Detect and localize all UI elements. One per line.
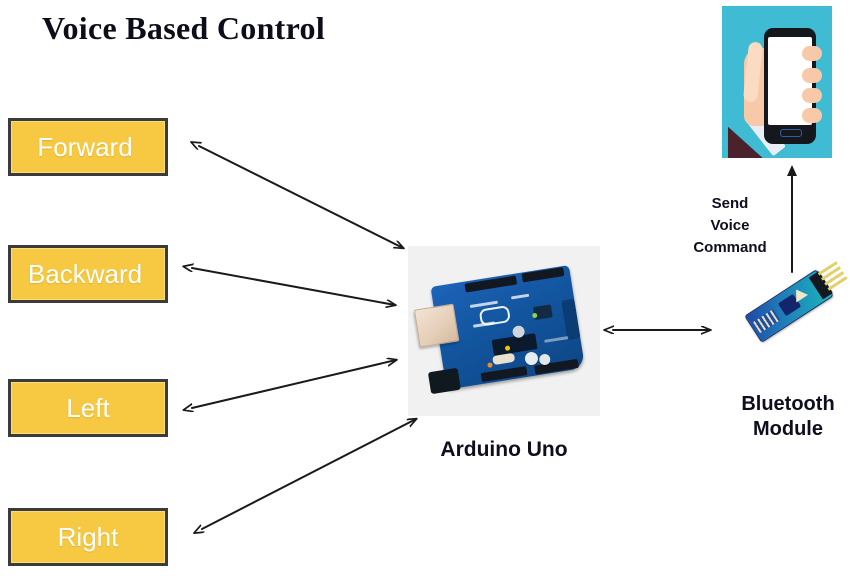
diagram-canvas: Voice Based Control Forward Backward Lef… <box>0 0 850 578</box>
header-pin-strip <box>464 275 517 292</box>
arduino-caption: Arduino Uno <box>408 438 600 462</box>
crystal-oscillator <box>492 353 515 365</box>
bluetooth-caption: Bluetooth Module <box>700 392 850 442</box>
arrow-left-arduino <box>192 360 396 408</box>
arrow-right-arduino <box>202 419 416 529</box>
power-jack <box>428 368 461 394</box>
arrow-backward-arduino <box>192 268 395 305</box>
silkscreen-mark <box>511 294 529 300</box>
send-voice-line-3: Command <box>672 237 788 259</box>
capacitor <box>524 351 539 366</box>
command-box-backward[interactable]: Backward <box>8 245 168 303</box>
pcb-notch <box>561 299 580 341</box>
bluetooth-caption-line-2: Module <box>700 417 850 442</box>
send-voice-command-label: Send Voice Command <box>672 193 788 258</box>
finger <box>802 88 822 103</box>
command-label: Forward <box>37 134 132 160</box>
silkscreen-mark <box>473 321 495 327</box>
command-box-forward[interactable]: Forward <box>8 118 168 176</box>
arduino-uno-board-icon <box>417 257 590 402</box>
command-label: Left <box>66 395 109 421</box>
page-title: Voice Based Control <box>42 10 325 47</box>
finger <box>802 68 822 83</box>
command-label: Right <box>58 524 119 550</box>
header-pin-strip <box>522 267 565 282</box>
hand-holding-smartphone-icon <box>722 6 832 158</box>
home-button-icon <box>780 129 802 137</box>
command-box-left[interactable]: Left <box>8 379 168 437</box>
usb-connector <box>414 304 459 348</box>
command-label: Backward <box>28 261 142 287</box>
arduino-uno-panel <box>408 246 600 416</box>
antenna-trace <box>753 309 780 333</box>
send-voice-line-2: Voice <box>672 215 788 237</box>
send-voice-line-1: Send <box>672 193 788 215</box>
silkscreen-mark <box>544 336 568 343</box>
command-box-right[interactable]: Right <box>8 508 168 566</box>
bluetooth-caption-line-1: Bluetooth <box>700 392 850 417</box>
led-indicator <box>487 362 493 368</box>
header-pin-strip <box>481 366 528 382</box>
bluetooth-module-hc05-icon <box>742 268 834 360</box>
finger <box>802 108 822 123</box>
arrow-forward-arduino <box>199 146 403 248</box>
finger <box>802 46 822 61</box>
bluetooth-pcb <box>744 269 834 343</box>
